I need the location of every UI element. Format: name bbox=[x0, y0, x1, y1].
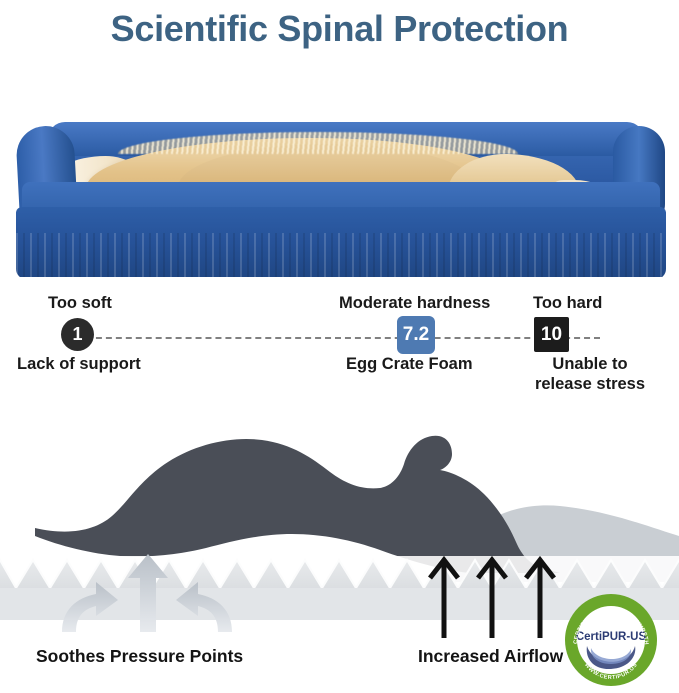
caption-increased-airflow: Increased Airflow bbox=[418, 646, 563, 667]
scale-unable-to-release-stress-label: Unable to release stress bbox=[525, 354, 655, 394]
scale-too-soft-label: Too soft bbox=[48, 294, 112, 313]
scale-unable-line2: release stress bbox=[525, 374, 655, 394]
scale-moderate-hardness-label: Moderate hardness bbox=[339, 294, 490, 313]
caption-soothes-pressure-points: Soothes Pressure Points bbox=[36, 646, 243, 667]
scale-unable-line1: Unable to bbox=[525, 354, 655, 374]
bed-eggcrate-base bbox=[16, 207, 666, 277]
scale-lack-of-support-label: Lack of support bbox=[17, 354, 141, 374]
infographic-page: Scientific Spinal Protection Too soft 1 … bbox=[0, 0, 679, 691]
hero-product-photo bbox=[8, 62, 671, 277]
scale-marker-1: 1 bbox=[61, 318, 94, 351]
seal-brand-text: CertiPUR-US bbox=[576, 631, 647, 643]
page-title: Scientific Spinal Protection bbox=[0, 6, 679, 52]
scale-marker-10: 10 bbox=[534, 317, 569, 352]
certipur-us-seal: CertiPUR-US CONTAINS CERTIFIED FLEXIBLE … bbox=[563, 592, 659, 688]
scale-marker-7-2: 7.2 bbox=[397, 316, 435, 354]
scale-dashed-line bbox=[76, 337, 600, 339]
scale-too-hard-label: Too hard bbox=[533, 294, 602, 313]
scale-egg-crate-foam-label: Egg Crate Foam bbox=[346, 354, 473, 374]
hardness-scale: Too soft 1 Lack of support Moderate hard… bbox=[0, 292, 679, 392]
dog-silhouette bbox=[35, 436, 560, 573]
